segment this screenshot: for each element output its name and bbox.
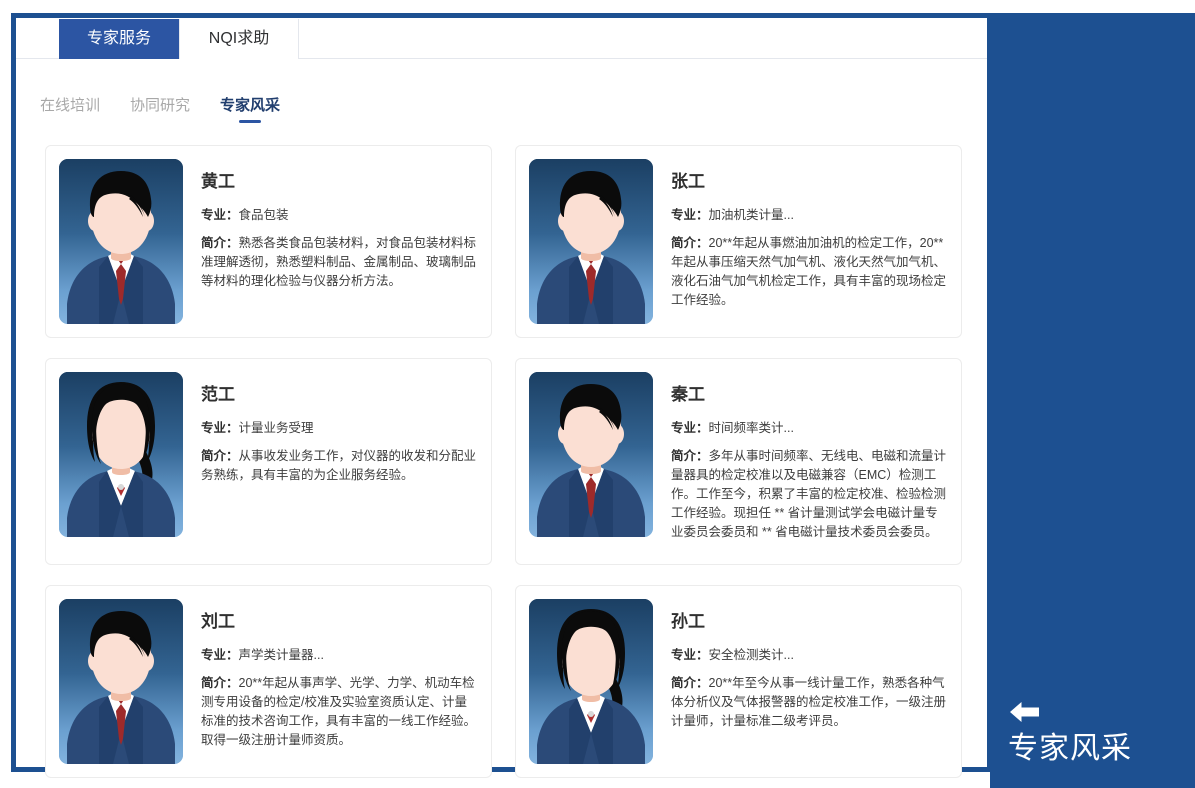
expert-avatar xyxy=(59,599,183,764)
expert-major-row: 专业：声学类计量器... xyxy=(201,646,478,665)
expert-intro-label: 简介： xyxy=(201,449,239,463)
expert-major-row: 专业：加油机类计量... xyxy=(671,206,948,225)
expert-info: 范工专业：计量业务受理简介：从事收发业务工作，对仪器的收发和分配业务熟练，具有丰… xyxy=(201,372,478,551)
expert-major-value: 时间频率类计... xyxy=(709,421,794,435)
page-root: 专家服务 NQI求助 在线培训 协同研究 专家风采 黄工专业：食品包装简介：熟悉… xyxy=(0,0,1195,788)
expert-major-row: 专业：时间频率类计... xyxy=(671,419,948,438)
expert-avatar xyxy=(59,159,183,324)
expert-card[interactable]: 范工专业：计量业务受理简介：从事收发业务工作，对仪器的收发和分配业务熟练，具有丰… xyxy=(45,358,492,565)
expert-avatar xyxy=(59,372,183,537)
expert-intro-row: 简介：多年从事时间频率、无线电、电磁和流量计量器具的检定校准以及电磁兼容（EMC… xyxy=(671,447,948,542)
expert-name: 黄工 xyxy=(201,167,478,192)
expert-intro-label: 简介： xyxy=(671,236,709,250)
expert-intro-label: 简介： xyxy=(671,676,709,690)
expert-info: 秦工专业：时间频率类计...简介：多年从事时间频率、无线电、电磁和流量计量器具的… xyxy=(671,372,948,551)
expert-intro-value: 多年从事时间频率、无线电、电磁和流量计量器具的检定校准以及电磁兼容（EMC）检测… xyxy=(671,449,946,539)
expert-intro-row: 简介：20**年起从事燃油加油机的检定工作，20**年起从事压缩天然气加气机、液… xyxy=(671,234,948,310)
expert-info: 刘工专业：声学类计量器...简介：20**年起从事声学、光学、力学、机动车检测专… xyxy=(201,599,478,764)
expert-intro-value: 20**年起从事燃油加油机的检定工作，20**年起从事压缩天然气加气机、液化天然… xyxy=(671,236,946,307)
expert-major-value: 声学类计量器... xyxy=(239,648,324,662)
expert-major-value: 计量业务受理 xyxy=(239,421,314,435)
expert-name: 张工 xyxy=(671,167,948,192)
expert-intro-label: 简介： xyxy=(671,449,709,463)
expert-intro-value: 20**年至今从事一线计量工作，熟悉各种气体分析仪及气体报警器的检定校准工作，一… xyxy=(671,676,946,728)
subtab-online-training[interactable]: 在线培训 xyxy=(38,88,102,125)
expert-intro-row: 简介：20**年起从事声学、光学、力学、机动车检测专用设备的检定/校准及实验室资… xyxy=(201,674,478,750)
expert-major-value: 安全检测类计... xyxy=(709,648,794,662)
expert-intro-value: 从事收发业务工作，对仪器的收发和分配业务熟练，具有丰富的为企业服务经验。 xyxy=(201,449,476,482)
expert-major-row: 专业：食品包装 xyxy=(201,206,478,225)
expert-major-label: 专业： xyxy=(671,208,709,222)
expert-card[interactable]: 张工专业：加油机类计量...简介：20**年起从事燃油加油机的检定工作，20**… xyxy=(515,145,962,338)
expert-card-grid: 黄工专业：食品包装简介：熟悉各类食品包装材料，对食品包装材料标准理解透彻，熟悉塑… xyxy=(45,145,957,778)
expert-major-label: 专业： xyxy=(201,421,239,435)
expert-major-value: 加油机类计量... xyxy=(709,208,794,222)
expert-intro-label: 简介： xyxy=(201,676,239,690)
expert-major-value: 食品包装 xyxy=(239,208,289,222)
expert-name: 刘工 xyxy=(201,607,478,632)
expert-major-row: 专业：安全检测类计... xyxy=(671,646,948,665)
expert-major-label: 专业： xyxy=(201,648,239,662)
side-panel-label: 专家风采 xyxy=(1008,730,1183,768)
expert-major-label: 专业： xyxy=(201,208,239,222)
expert-major-label: 专业： xyxy=(671,648,709,662)
avatar-illustration-male xyxy=(59,599,183,764)
expert-intro-row: 简介：熟悉各类食品包装材料，对食品包装材料标准理解透彻，熟悉塑料制品、金属制品、… xyxy=(201,234,478,291)
expert-card[interactable]: 刘工专业：声学类计量器...简介：20**年起从事声学、光学、力学、机动车检测专… xyxy=(45,585,492,778)
primary-tabbar: 专家服务 NQI求助 xyxy=(16,18,987,59)
avatar-illustration-female xyxy=(529,599,653,764)
expert-intro-row: 简介：从事收发业务工作，对仪器的收发和分配业务熟练，具有丰富的为企业服务经验。 xyxy=(201,447,478,485)
expert-avatar xyxy=(529,599,653,764)
avatar-illustration-male xyxy=(529,159,653,324)
expert-intro-value: 熟悉各类食品包装材料，对食品包装材料标准理解透彻，熟悉塑料制品、金属制品、玻璃制… xyxy=(201,236,476,288)
expert-info: 黄工专业：食品包装简介：熟悉各类食品包装材料，对食品包装材料标准理解透彻，熟悉塑… xyxy=(201,159,478,324)
content-frame: 专家服务 NQI求助 在线培训 协同研究 专家风采 黄工专业：食品包装简介：熟悉… xyxy=(11,13,992,772)
tab-expert-service[interactable]: 专家服务 xyxy=(59,19,179,59)
expert-name: 秦工 xyxy=(671,380,948,405)
expert-card[interactable]: 黄工专业：食品包装简介：熟悉各类食品包装材料，对食品包装材料标准理解透彻，熟悉塑… xyxy=(45,145,492,338)
expert-name: 孙工 xyxy=(671,607,948,632)
avatar-illustration-male xyxy=(529,372,653,537)
expert-avatar xyxy=(529,372,653,537)
expert-intro-label: 简介： xyxy=(201,236,239,250)
expert-major-row: 专业：计量业务受理 xyxy=(201,419,478,438)
expert-card[interactable]: 秦工专业：时间频率类计...简介：多年从事时间频率、无线电、电磁和流量计量器具的… xyxy=(515,358,962,565)
tab-nqi-help[interactable]: NQI求助 xyxy=(179,19,299,59)
secondary-tabbar: 在线培训 协同研究 专家风采 xyxy=(38,88,282,128)
expert-intro-row: 简介：20**年至今从事一线计量工作，熟悉各种气体分析仪及气体报警器的检定校准工… xyxy=(671,674,948,731)
expert-info: 孙工专业：安全检测类计...简介：20**年至今从事一线计量工作，熟悉各种气体分… xyxy=(671,599,948,764)
expert-major-label: 专业： xyxy=(671,421,709,435)
side-panel-content: 专家风采 xyxy=(1008,700,1183,768)
avatar-illustration-male xyxy=(59,159,183,324)
expert-avatar xyxy=(529,159,653,324)
expert-intro-value: 20**年起从事声学、光学、力学、机动车检测专用设备的检定/校准及实验室资质认定… xyxy=(201,676,476,747)
expert-info: 张工专业：加油机类计量...简介：20**年起从事燃油加油机的检定工作，20**… xyxy=(671,159,948,324)
expert-card[interactable]: 孙工专业：安全检测类计...简介：20**年至今从事一线计量工作，熟悉各种气体分… xyxy=(515,585,962,778)
arrow-left-icon[interactable] xyxy=(1008,700,1042,724)
side-panel: 专家风采 xyxy=(990,13,1195,788)
avatar-illustration-female xyxy=(59,372,183,537)
subtab-expert-showcase[interactable]: 专家风采 xyxy=(218,88,282,125)
expert-name: 范工 xyxy=(201,380,478,405)
subtab-collaborative-research[interactable]: 协同研究 xyxy=(128,88,192,125)
